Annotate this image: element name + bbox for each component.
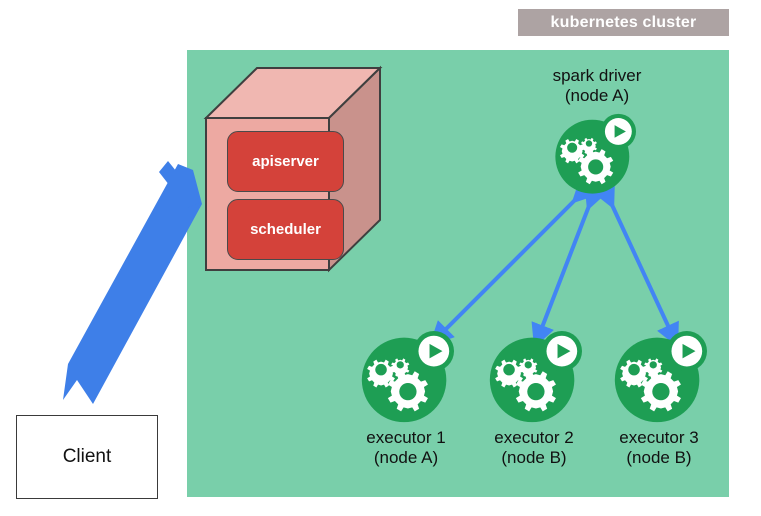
pod-scheduler-label: scheduler	[250, 221, 321, 238]
spark-driver-node: (node A)	[517, 86, 677, 106]
control-plane-cube: apiserver scheduler	[200, 62, 386, 274]
spark-driver-name: spark driver	[517, 66, 677, 86]
diagram-canvas: spark-submit apiserver scheduler spark d…	[0, 0, 761, 516]
executor-1-gears-play-icon[interactable]	[358, 330, 454, 426]
pod-apiserver[interactable]: apiserver	[227, 131, 344, 192]
kubernetes-cluster-label: kubernetes cluster	[518, 9, 729, 36]
kubernetes-cluster-label-text: kubernetes cluster	[551, 14, 697, 32]
spark-driver-caption: spark driver (node A)	[517, 66, 677, 106]
pod-scheduler[interactable]: scheduler	[227, 199, 344, 260]
executor-3-gears-play-icon[interactable]	[611, 330, 707, 426]
executor-3-caption: executor 3 (node B)	[583, 428, 735, 468]
client-label: Client	[63, 446, 112, 468]
client-box[interactable]: Client	[16, 415, 158, 499]
pod-apiserver-label: apiserver	[252, 153, 319, 170]
spark-submit-arrow	[55, 158, 215, 410]
executor-2-gears-play-icon[interactable]	[486, 330, 582, 426]
executor-3-name: executor 3	[583, 428, 735, 448]
spark-driver-gears-play-icon[interactable]	[552, 113, 636, 197]
executor-3-node: (node B)	[583, 448, 735, 468]
